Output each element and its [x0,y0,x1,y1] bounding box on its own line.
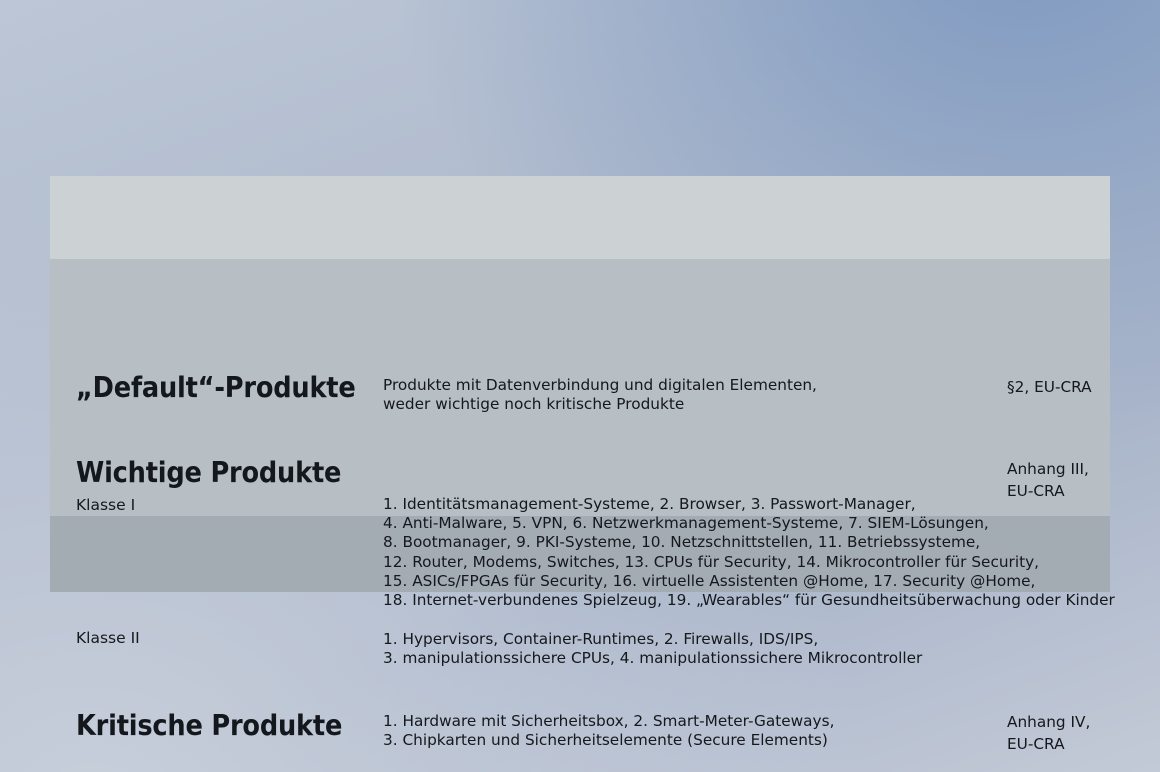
row-default-title: „Default“-Produkte [76,372,356,403]
row-default-description: Produkte mit Datenverbindung und digital… [383,376,817,414]
klasse-2-line-1: 1. Hypervisors, Container-Runtimes, 2. F… [383,630,922,649]
row-default-reference-line-1: §2, EU-CRA [1007,377,1092,399]
klasse-1-line-4: 12. Router, Modems, Switches, 13. CPUs f… [383,553,1115,572]
row-important-klasse-1-list: 1. Identitätsmanagement-Systeme, 2. Brow… [383,495,1115,610]
row-critical-title: Kritische Produkte [76,710,342,741]
row-critical-reference-line-2: EU-CRA [1007,734,1090,756]
klasse-2-line-2: 3. manipulationssichere CPUs, 4. manipul… [383,649,922,668]
row-default-reference: §2, EU-CRA [1007,377,1092,399]
critical-line-1: 1. Hardware mit Sicherheitsbox, 2. Smart… [383,712,834,731]
row-default-description-line-1: Produkte mit Datenverbindung und digital… [383,376,817,395]
row-important-klasse-1-label: Klasse I [76,496,135,515]
klasse-1-line-6: 18. Internet-verbundenes Spielzeug, 19. … [383,591,1115,610]
row-critical-list: 1. Hardware mit Sicherheitsbox, 2. Smart… [383,712,834,750]
row-important-reference-line-1: Anhang III, [1007,459,1089,481]
klasse-1-line-2: 4. Anti-Malware, 5. VPN, 6. Netzwerkmana… [383,514,1115,533]
row-important-title: Wichtige Produkte [76,457,341,488]
row-important-klasse-2-label: Klasse II [76,629,140,648]
klasse-1-line-5: 15. ASICs/FPGAs für Security, 16. virtue… [383,572,1115,591]
row-important-klasse-2-list: 1. Hypervisors, Container-Runtimes, 2. F… [383,630,922,668]
critical-line-2: 3. Chipkarten und Sicherheitselemente (S… [383,731,834,750]
band-default-products [50,176,1110,259]
row-critical-reference-line-1: Anhang IV, [1007,712,1090,734]
row-default-description-line-2: weder wichtige noch kritische Produkte [383,395,817,414]
klasse-1-line-1: 1. Identitätsmanagement-Systeme, 2. Brow… [383,495,1115,514]
product-category-panel: „Default“-Produkte Produkte mit Datenver… [50,176,1110,592]
klasse-1-line-3: 8. Bootmanager, 9. PKI-Systeme, 10. Netz… [383,533,1115,552]
row-critical-reference: Anhang IV, EU-CRA [1007,712,1090,755]
